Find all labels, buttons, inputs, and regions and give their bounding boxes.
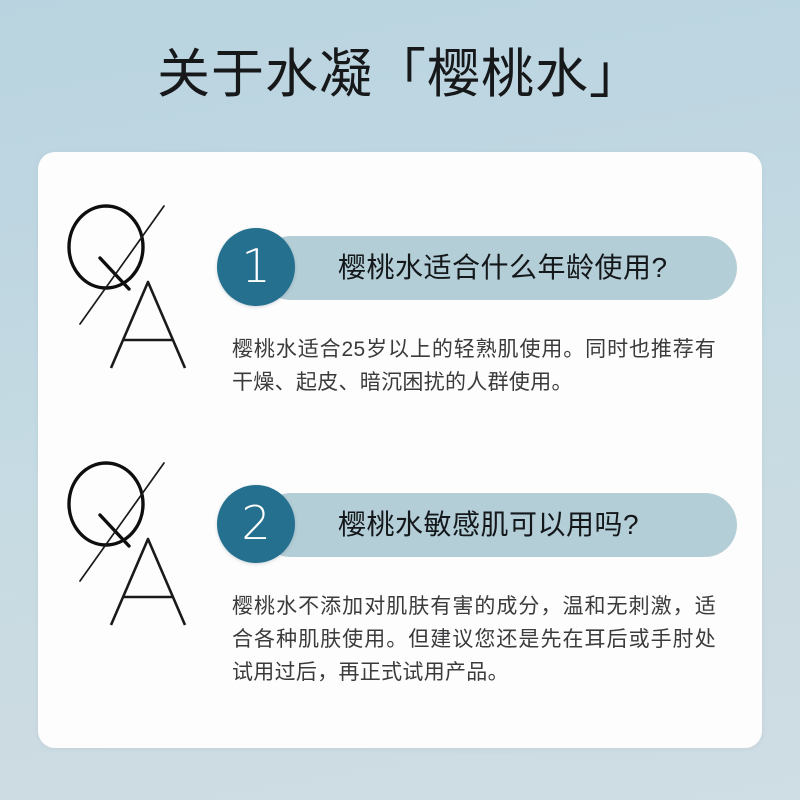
qa-monogram-icon bbox=[64, 457, 196, 633]
answer-text: 樱桃水适合25岁以上的轻熟肌使用。同时也推荐有干燥、起皮、暗沉困扰的人群使用。 bbox=[232, 333, 716, 399]
page-title: 关于水凝「樱桃水」 bbox=[0, 44, 800, 106]
question-number-badge: 2 bbox=[217, 485, 295, 563]
faq-card: 1 樱桃水适合什么年龄使用? 樱桃水适合25岁以上的轻熟肌使用。同时也推荐有干燥… bbox=[38, 152, 762, 748]
faq-page: 关于水凝「樱桃水」 1 樱桃水适合什么年龄使用? 樱桃水适合 bbox=[0, 0, 800, 800]
question-number: 2 bbox=[217, 485, 295, 563]
question-text: 樱桃水适合什么年龄使用? bbox=[338, 236, 668, 300]
answer-text: 樱桃水不添加对肌肤有害的成分，温和无刺激，适合各种肌肤使用。但建议您还是先在耳后… bbox=[232, 590, 716, 689]
question-number-badge: 1 bbox=[217, 228, 295, 306]
qa-monogram-icon bbox=[64, 200, 196, 376]
question-number: 1 bbox=[217, 228, 295, 306]
question-row[interactable]: 1 樱桃水适合什么年龄使用? bbox=[217, 228, 737, 306]
question-text: 樱桃水敏感肌可以用吗? bbox=[338, 493, 639, 557]
question-row[interactable]: 2 樱桃水敏感肌可以用吗? bbox=[217, 485, 737, 563]
